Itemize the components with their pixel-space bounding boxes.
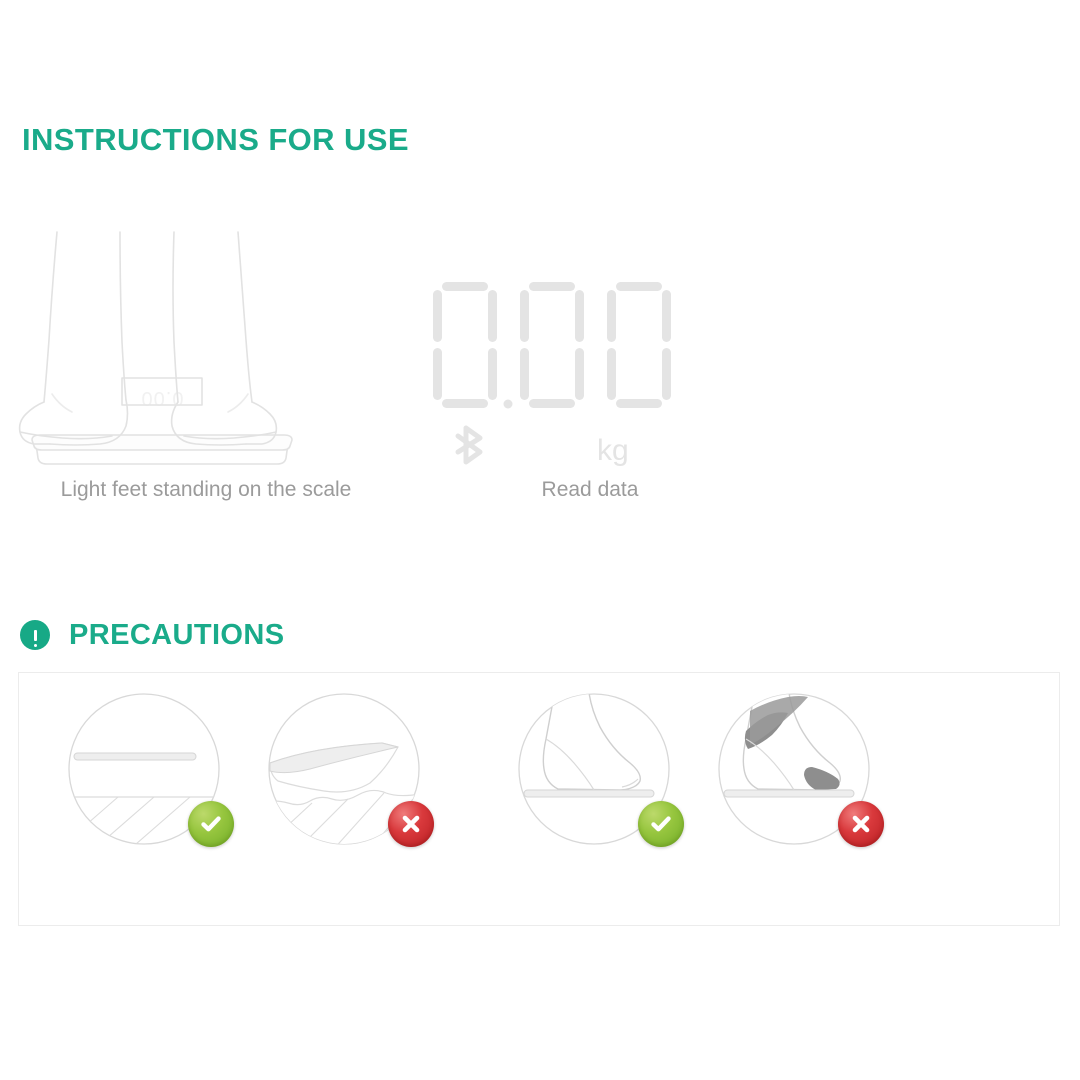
instruction-step-2-caption: Read data <box>400 478 780 502</box>
lcd-display-illustration: kg <box>400 230 780 480</box>
instruction-step-1-caption: Light feet standing on the scale <box>16 478 396 502</box>
page-title: INSTRUCTIONS FOR USE <box>22 122 409 158</box>
exclamation-circle-icon <box>20 620 50 650</box>
precautions-heading-label: PRECAUTIONS <box>69 619 284 652</box>
precaution-item-uneven-floor <box>266 691 426 851</box>
instruction-steps: 0.00 Light feet standing on the scale <box>0 230 1080 540</box>
instruction-step-2: kg Read data <box>400 230 780 540</box>
precaution-item-hard-floor <box>66 691 226 851</box>
check-badge-icon <box>188 801 234 847</box>
svg-text:0.00: 0.00 <box>141 387 184 409</box>
precaution-item-bare-foot <box>516 691 676 851</box>
precautions-panel <box>18 672 1060 926</box>
cross-badge-icon <box>388 801 434 847</box>
precautions-heading: PRECAUTIONS <box>20 615 284 655</box>
feet-on-scale-illustration: 0.00 <box>16 230 396 480</box>
instruction-step-1: 0.00 Light feet standing on the scale <box>16 230 396 540</box>
cross-badge-icon <box>838 801 884 847</box>
svg-text:kg: kg <box>597 434 629 467</box>
precaution-item-sock-foot <box>716 691 876 851</box>
check-badge-icon <box>638 801 684 847</box>
